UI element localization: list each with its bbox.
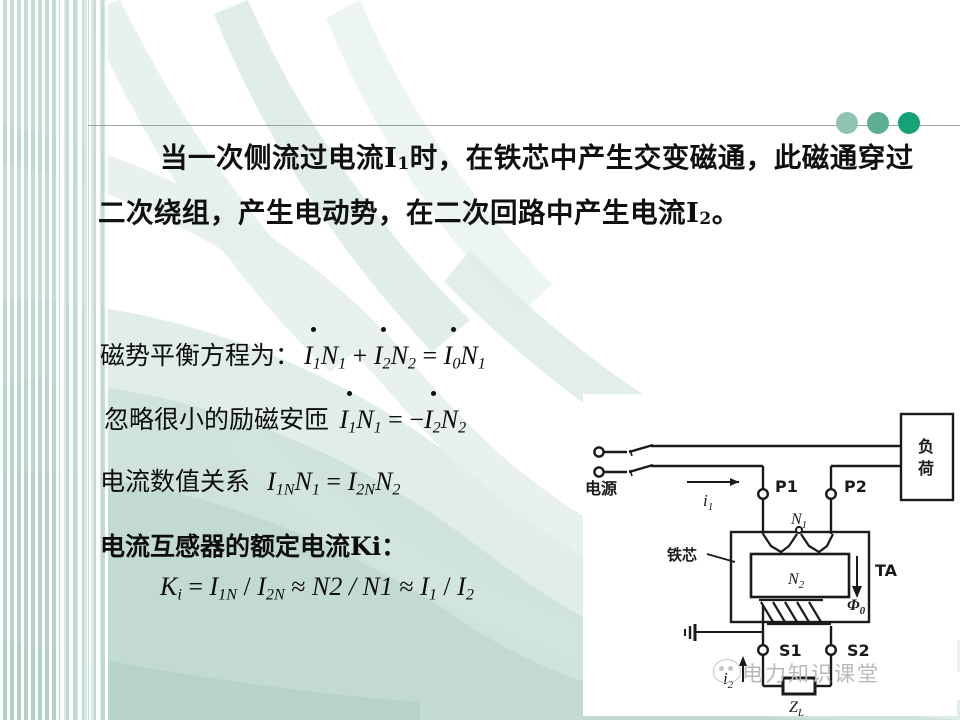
dot-medium-icon (867, 112, 889, 134)
eq4-I-d: I (457, 572, 466, 601)
eq2-equals: = (388, 405, 403, 434)
watermark-text: 电力知识课堂 (742, 658, 880, 688)
eq3-N-b-sub: 2 (392, 482, 400, 499)
eq2-N-a-sub: 1 (374, 420, 382, 437)
eq4-equals-1: = (188, 572, 203, 601)
current-symbol-1: I (384, 142, 397, 174)
current-symbol-2: I (686, 197, 699, 229)
eq1-plus: + (353, 341, 368, 370)
equation-1-formula: I1N1 + I2N2 = I0N1 (304, 341, 486, 370)
eq1-N-b: N (391, 341, 408, 370)
paragraph-part-3: 。 (712, 197, 740, 229)
diagram-label-source: 电源 (585, 479, 617, 498)
equation-1-label: 磁势平衡方程为： (100, 341, 300, 370)
eq4-N2N1: N2 / N1 (312, 572, 393, 601)
eq3-I-b-sub: 2N (356, 482, 375, 499)
equation-row-5-formula: Ki = I1N / I2N ≈ N2 / N1 ≈ I1 / I2 (160, 572, 474, 605)
header-divider (88, 125, 960, 126)
eq1-equals: = (422, 341, 437, 370)
eq2-I1: I1 (340, 405, 357, 438)
diagram-label-zl: ZL (789, 699, 804, 716)
paragraph-part-1: 当一次侧流过电流 (160, 142, 384, 174)
equation-4-label: 电流互感器的额定电流Ki： (100, 532, 406, 561)
watermark-logo-icon (713, 659, 741, 683)
eq4-slash-1: / (243, 572, 250, 601)
eq2-I2: I2 (424, 405, 441, 438)
equation-3-label: 电流数值关系 (100, 467, 250, 496)
diagram-label-ta: TA (875, 561, 898, 580)
diagram-label-load-2: 荷 (918, 459, 934, 478)
eq4-I-c: I (420, 572, 429, 601)
slide-canvas: 当一次侧流过电流I1时，在铁芯中产生交变磁通，此磁通穿过二次绕组，产生电动势，在… (0, 0, 960, 720)
eq4-I-a: I (210, 572, 219, 601)
current-subscript-2: 2 (699, 209, 711, 229)
body-paragraph: 当一次侧流过电流I1时，在铁芯中产生交变磁通，此磁通穿过二次绕组，产生电动势，在… (98, 134, 930, 244)
decorative-dots (836, 110, 922, 136)
eq1-N-a-sub: 1 (338, 356, 346, 373)
eq1-I1: I1 (304, 341, 321, 374)
eq2-N-b-sub: 2 (458, 420, 466, 437)
eq4-K-sub: i (177, 587, 181, 604)
eq4-I-b-sub: 2N (266, 587, 285, 604)
eq3-N-a-sub: 1 (312, 482, 320, 499)
stripe-band-left (0, 0, 104, 720)
dot-light-icon (836, 112, 858, 134)
equation-3-formula: I1NN1 = I2NN2 (254, 467, 400, 496)
eq4-approx-1: ≈ (291, 572, 305, 601)
equation-row-2: 忽略很小的励磁安匝 I1N1 = −I2N2 (104, 400, 466, 438)
diagram-label-load-1: 负 (918, 437, 934, 456)
diagram-label-n2: N2 (787, 571, 805, 591)
eq4-I-d-sub: 2 (466, 587, 474, 604)
eq1-I0: I0 (444, 341, 461, 374)
eq1-N-c: N (460, 341, 477, 370)
diagram-label-p2-real: P2 (844, 477, 867, 496)
eq4-I-c-sub: 1 (429, 587, 437, 604)
eq3-N-a: N (295, 467, 312, 496)
equation-4-formula: Ki = I1N / I2N ≈ N2 / N1 ≈ I1 / I2 (160, 572, 474, 601)
eq4-I-a-sub: 1N (218, 587, 237, 604)
dot-dark-icon (898, 112, 920, 134)
diagram-label-p1: P1 (775, 477, 798, 496)
eq3-equals: = (326, 467, 341, 496)
eq4-slash-2: / (443, 572, 450, 601)
equation-2-formula: I1N1 = −I2N2 (333, 405, 466, 434)
eq3-I-b: I (348, 467, 357, 496)
eq4-approx-2: ≈ (399, 572, 413, 601)
eq1-N-a: N (321, 341, 338, 370)
eq4-K: K (160, 572, 177, 601)
eq3-N-b: N (375, 467, 392, 496)
eq3-I-a-sub: 1N (276, 482, 295, 499)
eq2-N-b: N (441, 405, 458, 434)
eq2-N-a: N (356, 405, 373, 434)
eq1-N-b-sub: 2 (408, 356, 416, 373)
equation-row-3: 电流数值关系 I1NN1 = I2NN2 (100, 462, 400, 500)
eq1-I2: I2 (374, 341, 391, 374)
content-frame-rule (88, 0, 89, 720)
current-subscript-1: 1 (397, 154, 409, 174)
equation-row-1: 磁势平衡方程为： I1N1 + I2N2 = I0N1 (100, 336, 486, 374)
equation-2-label: 忽略很小的励磁安匝 (104, 405, 329, 434)
diagram-label-core: 铁芯 (667, 546, 697, 564)
diagram-label-flux: Φ0 (847, 597, 866, 617)
eq4-I-b: I (257, 572, 266, 601)
equation-row-4-label: 电流互感器的额定电流Ki： (100, 527, 406, 563)
diagram-label-i1: i1 (703, 491, 713, 513)
eq2-minus: − (409, 405, 424, 434)
eq3-I-a: I (267, 467, 276, 496)
eq1-N-c-sub: 1 (478, 356, 486, 373)
